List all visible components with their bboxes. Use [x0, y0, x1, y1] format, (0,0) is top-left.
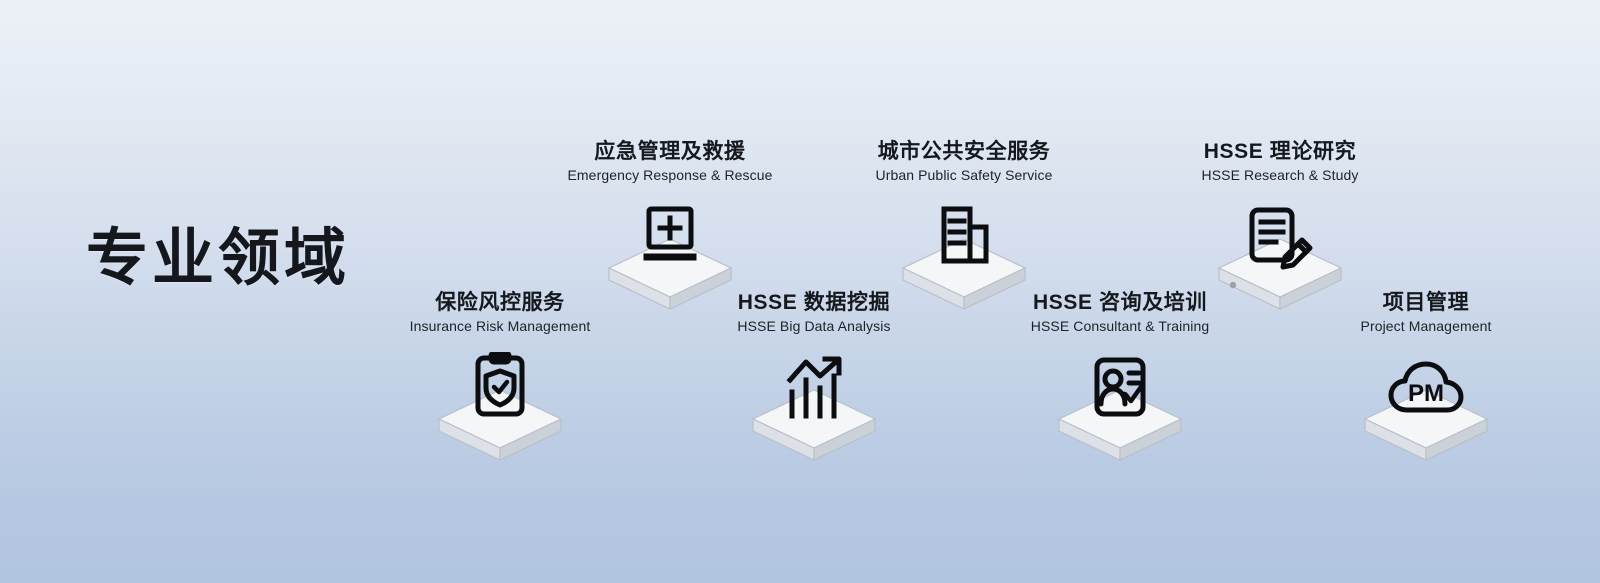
- domain-icon-block: [370, 344, 630, 464]
- domain-item-hsse-consultant-training[interactable]: HSSE 咨询及培训 HSSE Consultant & Training: [990, 291, 1250, 464]
- bar-chart-trend-up-icon: [782, 354, 846, 420]
- domain-label-en: HSSE Consultant & Training: [990, 318, 1250, 334]
- domain-item-labels: 保险风控服务 Insurance Risk Management: [370, 291, 630, 334]
- domain-item-labels: HSSE 理论研究 HSSE Research & Study: [1150, 140, 1410, 183]
- domain-label-en: Insurance Risk Management: [370, 318, 630, 334]
- domain-item-hsse-big-data-analysis[interactable]: HSSE 数据挖掘 HSSE Big Data Analysis: [684, 291, 944, 464]
- domain-icon-block: [684, 344, 944, 464]
- professional-domains-banner: 专业领域 应急管理及救援 Emergency Response & Rescue: [0, 0, 1600, 583]
- first-aid-kit-icon: [641, 205, 699, 267]
- domain-label-en: Project Management: [1296, 318, 1556, 334]
- domain-item-labels: 城市公共安全服务 Urban Public Safety Service: [834, 140, 1094, 183]
- domain-item-emergency-response-rescue[interactable]: 应急管理及救援 Emergency Response & Rescue: [540, 140, 800, 313]
- clipboard-shield-check-icon: [472, 352, 528, 420]
- domain-item-hsse-research-study[interactable]: HSSE 理论研究 HSSE Research & Study: [1150, 140, 1410, 313]
- id-card-person-check-icon: [1091, 356, 1149, 420]
- domain-label-cn: HSSE 数据挖掘: [684, 291, 944, 315]
- domain-item-labels: 项目管理 Project Management: [1296, 291, 1556, 334]
- domain-label-en: HSSE Research & Study: [1150, 167, 1410, 183]
- city-buildings-icon: [936, 205, 992, 267]
- domain-label-en: Emergency Response & Rescue: [540, 167, 800, 183]
- domain-icon-block: [990, 344, 1250, 464]
- document-pencil-icon: [1244, 207, 1316, 273]
- domain-label-cn: HSSE 理论研究: [1150, 140, 1410, 164]
- domain-item-insurance-risk-management[interactable]: 保险风控服务 Insurance Risk Management: [370, 291, 630, 464]
- domain-item-labels: 应急管理及救援 Emergency Response & Rescue: [540, 140, 800, 183]
- domain-label-cn: HSSE 咨询及培训: [990, 291, 1250, 315]
- domain-label-en: HSSE Big Data Analysis: [684, 318, 944, 334]
- domain-label-cn: 项目管理: [1296, 291, 1556, 315]
- domain-item-project-management[interactable]: 项目管理 Project Management PM: [1296, 291, 1556, 464]
- domain-label-cn: 城市公共安全服务: [834, 140, 1094, 164]
- domain-item-labels: HSSE 咨询及培训 HSSE Consultant & Training: [990, 291, 1250, 334]
- domain-item-urban-public-safety-service[interactable]: 城市公共安全服务 Urban Public Safety Service: [834, 140, 1094, 313]
- page-title: 专业领域: [86, 228, 350, 290]
- domain-label-cn: 应急管理及救援: [540, 140, 800, 164]
- domain-label-cn: 保险风控服务: [370, 291, 630, 315]
- domain-label-en: Urban Public Safety Service: [834, 167, 1094, 183]
- cloud-pm-icon: PM: [1387, 360, 1465, 416]
- domain-item-labels: HSSE 数据挖掘 HSSE Big Data Analysis: [684, 291, 944, 334]
- domain-icon-block: PM: [1296, 344, 1556, 464]
- cloud-pm-label: PM: [1408, 380, 1444, 407]
